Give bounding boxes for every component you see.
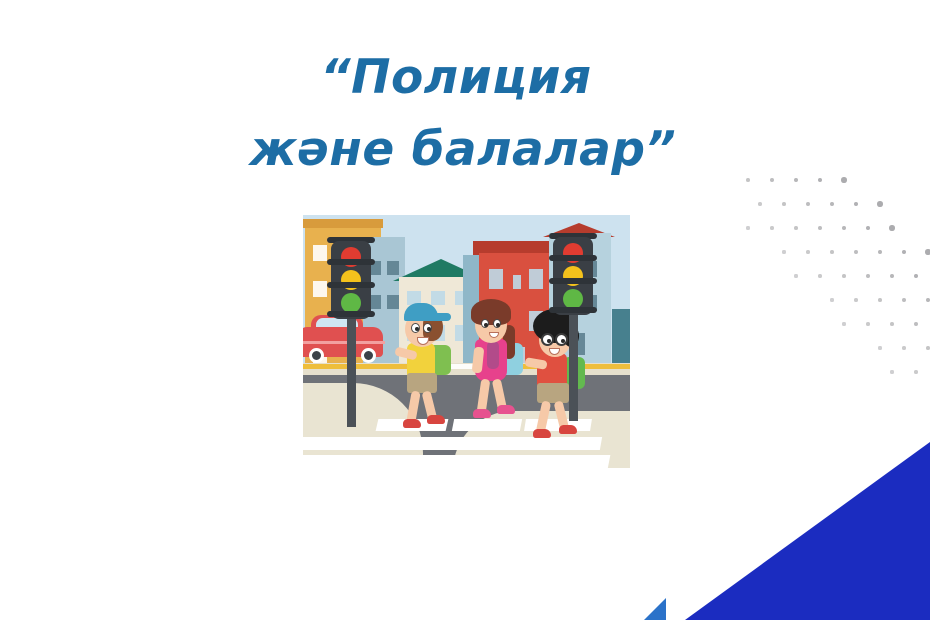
shorts [407,373,437,393]
light-housing [331,241,371,319]
shoe-back [427,415,445,424]
pattern-dot [866,226,871,231]
green-lamp [341,293,361,313]
backpack-strap [487,341,499,369]
visor-mid-2 [327,282,375,288]
pattern-dot [877,201,882,206]
hair [471,299,511,325]
pattern-dot [878,346,881,349]
bottom-right-blue-triangle [685,442,930,620]
pattern-dot [926,346,930,350]
pattern-dot [890,322,894,326]
pattern-dot [782,250,785,253]
eye-right [423,323,432,333]
pattern-dot [866,322,870,326]
visor-bottom [549,307,597,313]
pattern-dot [854,202,859,207]
shoe-back [497,405,515,414]
pattern-dot [902,298,906,302]
pattern-dot [770,226,774,230]
pattern-dot [902,250,907,255]
pattern-dot [878,250,883,255]
visor-mid-2 [549,278,597,284]
pattern-dot [830,250,834,254]
pattern-dot [854,250,858,254]
light-housing [553,237,593,315]
pattern-dot [746,226,749,229]
pattern-dot [866,274,870,278]
pattern-dot [889,225,894,230]
pattern-dot [914,274,919,279]
pattern-dot [830,202,835,207]
title-line-2: және балалар” [0,114,930,186]
shoe-front [533,429,551,438]
traffic-light-left [331,233,387,423]
pattern-dot [842,322,845,325]
eye-left [481,319,489,328]
visor-bottom [327,311,375,317]
pattern-dot [854,298,858,302]
children-crossing-street-illustration [303,215,630,468]
pattern-dot [878,298,882,302]
gradient-dot-pattern [742,176,930,398]
pattern-dot [926,298,930,303]
shoe-front [403,419,421,428]
pattern-dot [902,346,906,350]
cap [404,303,438,321]
slide-canvas: “Полиция және балалар” [0,0,930,620]
pattern-dot [782,202,786,206]
pattern-dot [794,226,798,230]
pattern-dot [818,226,822,230]
green-lamp [563,289,583,309]
pattern-dot [890,274,895,279]
pole [569,311,578,421]
visor-mid-1 [549,255,597,261]
pattern-dot [925,249,930,254]
shirt [407,343,435,377]
pattern-dot [830,298,833,301]
car-wheel-front [309,348,324,363]
pattern-dot [806,202,810,206]
pattern-dot [794,274,797,277]
cap-brim [435,313,451,321]
title-line-1: “Полиция [0,42,930,114]
shoe-back [559,425,577,434]
small-blue-accent-triangle [644,598,666,620]
pattern-dot [842,226,847,231]
pattern-dot [758,202,762,206]
pattern-dot [806,250,810,254]
pattern-dot [914,322,918,326]
eye-right [493,319,501,328]
pattern-dot [890,370,893,373]
pattern-dot [818,274,822,278]
pattern-dot [914,370,918,374]
traffic-light-right [553,229,609,421]
pole [347,315,356,427]
eye-left [411,323,420,333]
shoe-front [473,409,491,418]
boy-with-blue-cap [399,293,469,443]
visor-mid-1 [327,259,375,265]
page-title: “Полиция және балалар” [0,42,930,186]
pattern-dot [842,274,846,278]
